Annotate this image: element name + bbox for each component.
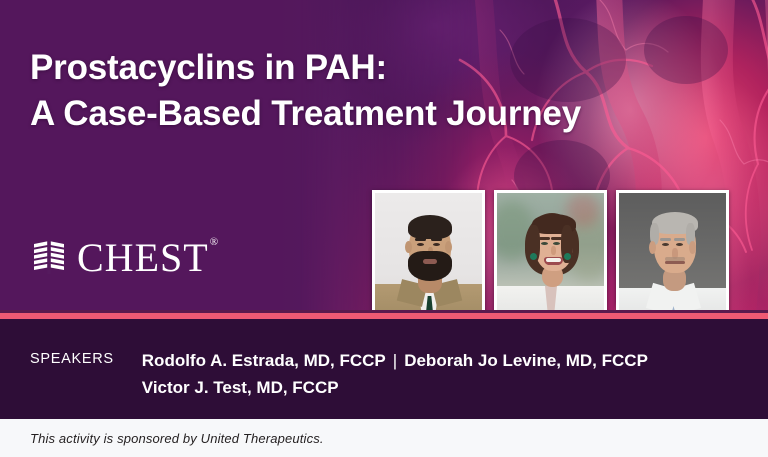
chest-logo: CHEST® (30, 237, 217, 277)
speaker-name-estrada: Rodolfo A. Estrada, MD, FCCP (142, 351, 386, 370)
portrait-test (619, 193, 726, 313)
speaker-name-levine: Deborah Jo Levine, MD, FCCP (404, 351, 648, 370)
speakers-label: SPEAKERS (30, 348, 114, 367)
page-title: Prostacyclins in PAH: A Case-Based Treat… (30, 45, 750, 136)
speakers-block: SPEAKERS Rodolfo A. Estrada, MD, FCCP|De… (30, 348, 648, 402)
portrait-levine (497, 193, 604, 313)
registered-trademark-symbol: ® (210, 236, 218, 248)
speakers-names: Rodolfo A. Estrada, MD, FCCP|Deborah Jo … (142, 348, 648, 402)
footer-bar: This activity is sponsored by United The… (0, 419, 768, 457)
sponsor-text: This activity is sponsored by United The… (30, 431, 324, 446)
speaker-photos (372, 190, 729, 313)
hero-background: Prostacyclins in PAH: A Case-Based Treat… (0, 0, 768, 313)
speaker-photo-levine (494, 190, 607, 313)
chest-wordmark-text: CHEST (77, 235, 209, 280)
promo-banner: Prostacyclins in PAH: A Case-Based Treat… (0, 0, 768, 457)
speakers-line-1: Rodolfo A. Estrada, MD, FCCP|Deborah Jo … (142, 348, 648, 375)
chest-ribcage-icon (30, 238, 68, 276)
speaker-name-separator: | (386, 351, 404, 370)
chest-wordmark: CHEST® (77, 238, 217, 278)
portrait-estrada (375, 193, 482, 313)
speaker-name-test: Victor J. Test, MD, FCCP (142, 378, 339, 397)
speakers-line-2: Victor J. Test, MD, FCCP (142, 375, 648, 402)
speaker-photo-test (616, 190, 729, 313)
speaker-photo-estrada (372, 190, 485, 313)
